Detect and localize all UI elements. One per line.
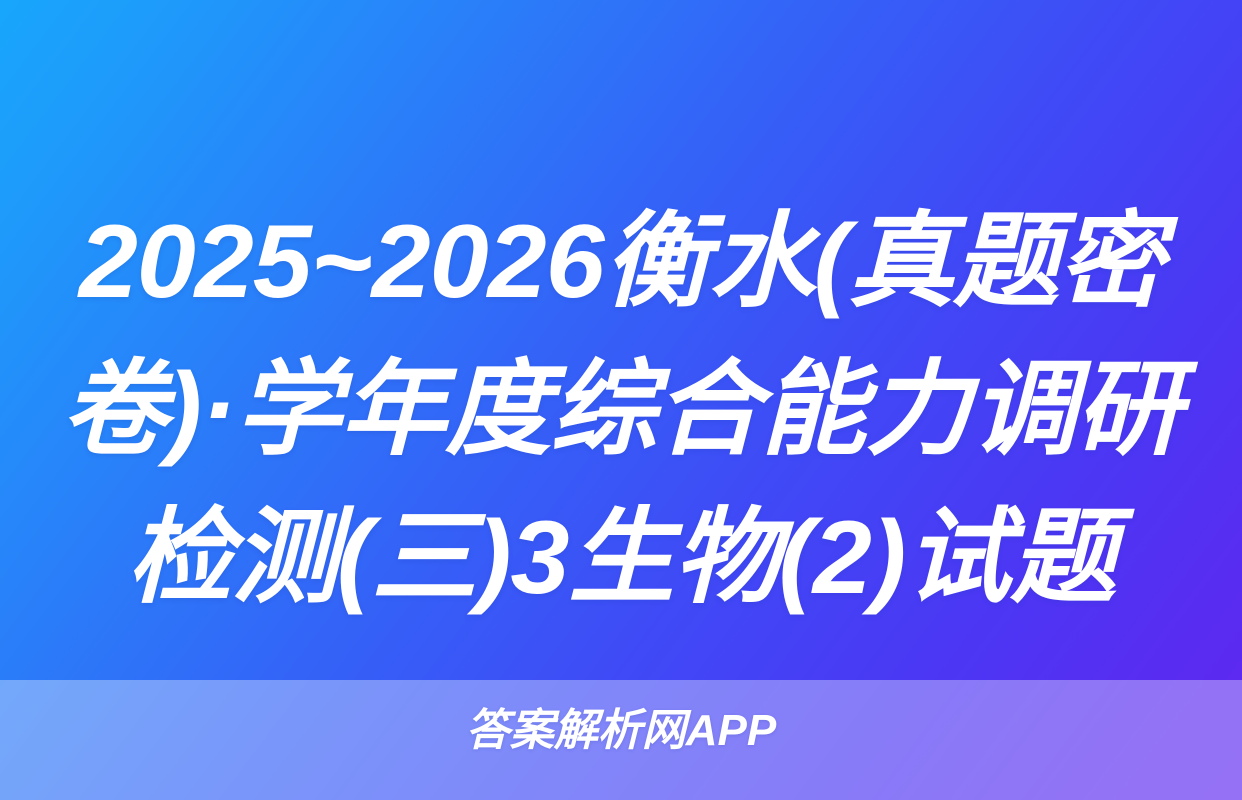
title-line-2: 卷)·学年度综合能力调研	[0, 336, 1242, 484]
poster-canvas: 2025~2026衡水(真题密 卷)·学年度综合能力调研 检测(三)3生物(2)…	[0, 0, 1242, 800]
title-line-1: 2025~2026衡水(真题密	[0, 188, 1242, 336]
app-brand-label: 答案解析网APP	[0, 702, 1242, 760]
title-block: 2025~2026衡水(真题密 卷)·学年度综合能力调研 检测(三)3生物(2)…	[0, 188, 1242, 628]
footer-band: 答案解析网APP	[0, 680, 1242, 800]
title-line-3: 检测(三)3生物(2)试题	[0, 484, 1242, 632]
